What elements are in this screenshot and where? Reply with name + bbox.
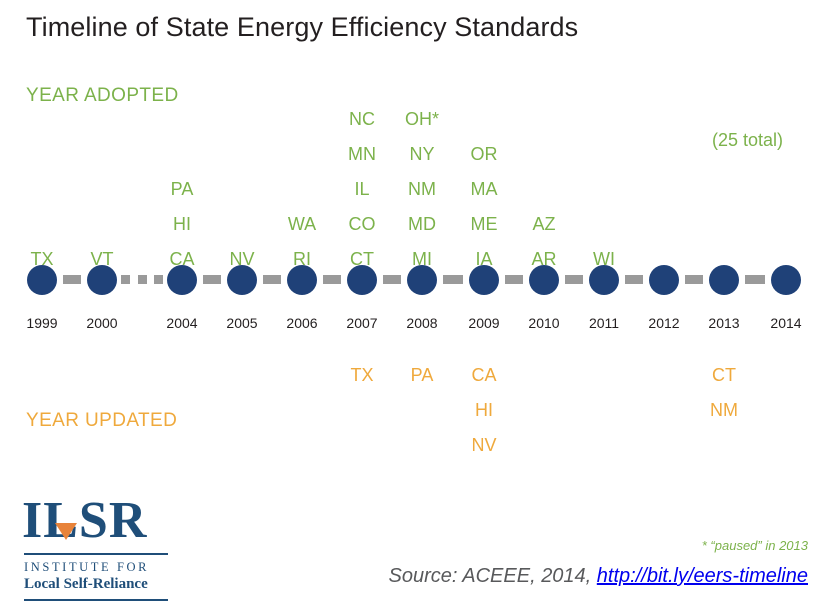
adopted-state-label: CO xyxy=(349,207,376,242)
updated-state-label: CT xyxy=(712,358,736,393)
timeline-connector-dot xyxy=(138,275,147,284)
updated-state-label: NM xyxy=(710,393,738,428)
ilsr-logo: ILSR INSTITUTE FOR Local Self-Reliance xyxy=(22,495,172,601)
logo-triangle-icon xyxy=(55,523,77,540)
timeline-column-2014: 2014 xyxy=(750,0,822,605)
timeline-year-label: 1999 xyxy=(6,315,78,331)
timeline-column-2008: OH*NYNMMDMI2008PA xyxy=(386,0,458,605)
adopted-state-label: IL xyxy=(354,172,369,207)
timeline-year-label: 2006 xyxy=(266,315,338,331)
adopted-state-label: WA xyxy=(288,207,316,242)
footnote: * “paused” in 2013 xyxy=(702,538,808,553)
timeline-connector-dot xyxy=(121,275,130,284)
adopted-state-label: OR xyxy=(471,137,498,172)
timeline-dot-1999[interactable] xyxy=(27,265,57,295)
timeline-column-2013: 2013CTNM xyxy=(688,0,760,605)
source-line: Source: ACEEE, 2014, http://bit.ly/eers-… xyxy=(389,565,808,588)
adopted-state-label: MA xyxy=(471,172,498,207)
timeline-year-label: 2000 xyxy=(66,315,138,331)
updated-states-2008: PA xyxy=(386,358,458,393)
updated-states-2009: CAHINV xyxy=(448,358,520,463)
adopted-state-label: PA xyxy=(171,172,194,207)
adopted-state-label: IA xyxy=(475,242,492,277)
timeline-column-2007: NCMNILCOCT2007TX xyxy=(326,0,398,605)
timeline-dot-2007[interactable] xyxy=(347,265,377,295)
adopted-states-2011: WI xyxy=(568,242,640,277)
logo-divider-bottom xyxy=(24,599,168,601)
timeline-column-2011: WI2011 xyxy=(568,0,640,605)
adopted-states-2009: ORMAMEIA xyxy=(448,137,520,277)
timeline-dot-2004[interactable] xyxy=(167,265,197,295)
adopted-states-2008: OH*NYNMMDMI xyxy=(386,102,458,277)
timeline-connector-dot xyxy=(154,275,163,284)
adopted-states-2005: NV xyxy=(206,242,278,277)
timeline-dot-2008[interactable] xyxy=(407,265,437,295)
timeline-dot-2013[interactable] xyxy=(709,265,739,295)
timeline-dot-2010[interactable] xyxy=(529,265,559,295)
adopted-state-label: CA xyxy=(169,242,194,277)
logo-divider-top xyxy=(24,553,168,555)
adopted-states-2004: PAHICA xyxy=(146,172,218,277)
timeline-dot-2014[interactable] xyxy=(771,265,801,295)
adopted-state-label: AZ xyxy=(532,207,555,242)
adopted-state-label: MI xyxy=(412,242,432,277)
adopted-state-label: RI xyxy=(293,242,311,277)
timeline-dot-2012[interactable] xyxy=(649,265,679,295)
updated-state-label: HI xyxy=(475,393,493,428)
updated-state-label: PA xyxy=(411,358,434,393)
updated-states-2013: CTNM xyxy=(688,358,760,428)
timeline-column-2012: 2012 xyxy=(628,0,700,605)
adopted-state-label: NV xyxy=(229,242,254,277)
source-prefix: Source: ACEEE, 2014, xyxy=(389,565,597,587)
adopted-state-label: AR xyxy=(531,242,556,277)
timeline-connector xyxy=(443,275,463,284)
timeline-connector xyxy=(383,275,401,284)
timeline-year-label: 2012 xyxy=(628,315,700,331)
timeline-dot-2006[interactable] xyxy=(287,265,317,295)
timeline-year-label: 2007 xyxy=(326,315,398,331)
timeline-year-label: 2014 xyxy=(750,315,822,331)
logo-tagline-1: INSTITUTE FOR xyxy=(24,560,172,575)
timeline-connector xyxy=(505,275,523,284)
timeline-dot-2011[interactable] xyxy=(589,265,619,295)
adopted-state-label: MN xyxy=(348,137,376,172)
timeline-connector xyxy=(745,275,765,284)
adopted-states-2000: VT xyxy=(66,242,138,277)
timeline-year-label: 2013 xyxy=(688,315,760,331)
timeline-year-label: 2010 xyxy=(508,315,580,331)
adopted-state-label: NC xyxy=(349,102,375,137)
adopted-state-label: NY xyxy=(409,137,434,172)
timeline-connector xyxy=(625,275,643,284)
timeline-dot-2000[interactable] xyxy=(87,265,117,295)
adopted-state-label: HI xyxy=(173,207,191,242)
logo-wordmark: ILSR xyxy=(22,495,172,547)
timeline-year-label: 2005 xyxy=(206,315,278,331)
timeline-connector xyxy=(323,275,341,284)
adopted-state-label: TX xyxy=(30,242,53,277)
timeline-connector xyxy=(263,275,281,284)
timeline-column-2009: ORMAMEIA2009CAHINV xyxy=(448,0,520,605)
updated-state-label: CA xyxy=(471,358,496,393)
timeline-year-label: 2011 xyxy=(568,315,640,331)
timeline-connector xyxy=(203,275,221,284)
timeline-year-label: 2008 xyxy=(386,315,458,331)
updated-states-2007: TX xyxy=(326,358,398,393)
timeline-dot-2009[interactable] xyxy=(469,265,499,295)
timeline-connector xyxy=(685,275,703,284)
adopted-states-2010: AZAR xyxy=(508,207,580,277)
logo-tagline-2: Local Self-Reliance xyxy=(24,576,172,593)
timeline-connector-dotted xyxy=(117,275,167,284)
timeline-column-2010: AZAR2010 xyxy=(508,0,580,605)
adopted-state-label: OH* xyxy=(405,102,439,137)
adopted-state-label: WI xyxy=(593,242,615,277)
source-url-link[interactable]: http://bit.ly/eers-timeline xyxy=(597,565,808,587)
timeline-column-2006: WARI2006 xyxy=(266,0,338,605)
adopted-state-label: ME xyxy=(471,207,498,242)
timeline-column-2005: NV2005 xyxy=(206,0,278,605)
timeline-connector xyxy=(63,275,81,284)
updated-state-label: NV xyxy=(471,428,496,463)
adopted-states-2006: WARI xyxy=(266,207,338,277)
timeline-year-label: 2009 xyxy=(448,315,520,331)
adopted-state-label: MD xyxy=(408,207,436,242)
timeline-dot-2005[interactable] xyxy=(227,265,257,295)
timeline-year-label: 2004 xyxy=(146,315,218,331)
adopted-states-2007: NCMNILCOCT xyxy=(326,102,398,277)
adopted-state-label: CT xyxy=(350,242,374,277)
adopted-states-1999: TX xyxy=(6,242,78,277)
updated-state-label: TX xyxy=(350,358,373,393)
adopted-state-label: NM xyxy=(408,172,436,207)
adopted-state-label: VT xyxy=(90,242,113,277)
timeline-connector xyxy=(565,275,583,284)
